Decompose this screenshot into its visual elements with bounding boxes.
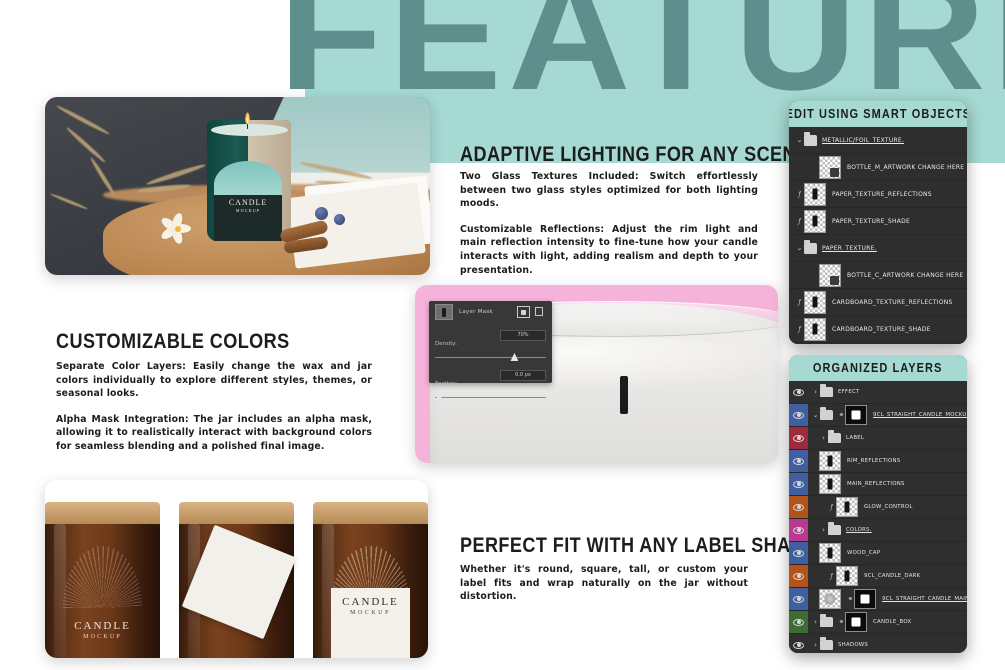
- folder-icon: [820, 387, 833, 397]
- layer-mask-thumbnail: [854, 589, 876, 609]
- candle-wax-top: [211, 124, 288, 136]
- photo-amber-jars: CANDLE MOCKUP CANDLE MOCKUP: [45, 480, 428, 658]
- smart-object-row[interactable]: ⌄PAPER_TEXTURE.: [789, 235, 967, 262]
- folder-icon: [804, 243, 817, 254]
- layer-thumbnail: [804, 183, 826, 206]
- layer-mask-properties-panel[interactable]: Layer Mask Density: 70% Feather: 0.0 px: [429, 301, 552, 383]
- layer-row[interactable]: ›COLORS.: [789, 519, 967, 542]
- jar-brand-sub: MOCKUP: [63, 634, 141, 640]
- layer-visibility-eye-icon[interactable]: [789, 565, 808, 587]
- layer-thumbnail: [804, 318, 826, 341]
- layer-name: METALLIC/FOIL_TEXTURE.: [822, 137, 904, 144]
- amber-jar: CANDLE MOCKUP: [45, 502, 160, 658]
- folder-icon: [820, 410, 833, 420]
- wood-lid: [179, 502, 294, 524]
- disclosure-triangle-icon[interactable]: ⌄: [811, 412, 820, 419]
- folder-icon: [828, 433, 841, 443]
- smart-object-thumbnail: [819, 156, 841, 179]
- smart-object-row[interactable]: ƒCARDBOARD_TEXTURE_REFLECTIONS: [789, 289, 967, 316]
- feather-value[interactable]: 0.0 px: [500, 370, 546, 381]
- layer-visibility-eye-icon[interactable]: [789, 588, 808, 610]
- layer-thumbnail: [804, 210, 826, 233]
- mask-options-icon[interactable]: [535, 307, 546, 317]
- layer-row[interactable]: MAIN_REFLECTIONS: [789, 473, 967, 496]
- layer-visibility-eye-icon[interactable]: [789, 404, 808, 426]
- mask-panel-title: Layer Mask: [459, 309, 493, 315]
- panel-smart-objects[interactable]: EDIT USING SMART OBJECTS ⌄METALLIC/FOIL_…: [789, 101, 967, 344]
- layer-thumbnail: [804, 291, 826, 314]
- layer-name: COLORS.: [846, 527, 872, 533]
- label-brand-name: CANDLE: [229, 198, 267, 207]
- layer-row[interactable]: ›LABEL: [789, 427, 967, 450]
- amber-jar: CANDLE MOCKUP: [313, 502, 428, 658]
- heading-adaptive-lighting: ADAPTIVE LIGHTING FOR ANY SCENE: [460, 143, 808, 167]
- layer-name: 9CL_STRAIGHT_CANDLE_MAIN-01: [882, 596, 967, 602]
- photo-layer-mask-demo: Layer Mask Density: 70% Feather: 0.0 px: [415, 285, 778, 463]
- fx-icon: ƒ: [795, 191, 804, 198]
- heading-customizable-colors: CUSTOMIZABLE COLORS: [56, 330, 290, 354]
- select-mask-icon[interactable]: [517, 306, 530, 318]
- link-chain-icon[interactable]: ⚭: [838, 618, 845, 626]
- paragraph: Customizable Reflections: Adjust the rim…: [460, 223, 758, 277]
- feather-field[interactable]: Feather: 0.0 px: [429, 370, 552, 403]
- layer-name: MAIN_REFLECTIONS: [847, 481, 905, 487]
- smart-object-row[interactable]: BOTTLE_C_ARTWORK CHANGE HERE: [789, 262, 967, 289]
- layer-visibility-eye-icon[interactable]: [789, 450, 808, 472]
- layer-row[interactable]: ›SHADOWS: [789, 634, 967, 653]
- layer-visibility-eye-icon[interactable]: [789, 496, 808, 518]
- smart-object-row[interactable]: ƒPAPER_TEXTURE_SHADE: [789, 208, 967, 235]
- fx-icon: ƒ: [795, 299, 804, 306]
- layer-visibility-eye-icon[interactable]: [789, 427, 808, 449]
- paragraph: Whether it's round, square, tall, or cus…: [460, 563, 748, 604]
- layer-name: PAPER_TEXTURE.: [822, 245, 877, 252]
- layer-name: GLOW_CONTROL: [864, 504, 913, 510]
- jar-label-white: CANDLE MOCKUP: [331, 588, 409, 658]
- disclosure-triangle-icon[interactable]: ›: [819, 527, 828, 534]
- poster-canvas: FEATURES CANDLE MOCKUP: [0, 0, 1005, 670]
- layer-name: LABEL: [846, 435, 864, 441]
- layer-mask-thumbnail: [845, 405, 867, 425]
- heading-perfect-fit: PERFECT FIT WITH ANY LABEL SHAPE: [460, 534, 816, 558]
- mask-thumbnail-icon: [435, 304, 453, 320]
- layer-name: CANDLE_BOX: [873, 619, 911, 625]
- density-value[interactable]: 70%: [500, 330, 546, 341]
- blueberry: [315, 207, 328, 220]
- layer-mask-thumbnail: [845, 612, 867, 632]
- feather-label: Feather:: [435, 381, 457, 387]
- folder-icon: [820, 640, 833, 650]
- layer-name: CARDBOARD_TEXTURE_SHADE: [832, 326, 931, 333]
- layer-row[interactable]: WOOD_CAP: [789, 542, 967, 565]
- link-chain-icon[interactable]: ⚭: [838, 411, 845, 419]
- body-customizable-colors: Separate Color Layers: Easily change the…: [56, 360, 372, 454]
- jar-brand-name: CANDLE: [331, 596, 409, 608]
- layer-row[interactable]: ⌄⚭9CL_STRAIGHT_CANDLE_MOCKUP_02: [789, 404, 967, 427]
- panel-organized-layers[interactable]: ORGANIZED LAYERS ›EFFECT⌄⚭9CL_STRAIGHT_C…: [789, 355, 967, 653]
- layer-visibility-eye-icon[interactable]: [789, 634, 808, 653]
- jar-brand-name: CANDLE: [63, 620, 141, 632]
- layer-name: RIM_REFLECTIONS: [847, 458, 900, 464]
- layer-name: 9CL_CANDLE_DARK: [864, 573, 920, 579]
- label-brand-text: CANDLE MOCKUP: [214, 198, 281, 213]
- density-field[interactable]: Density: 70%: [429, 330, 552, 363]
- layer-visibility-eye-icon[interactable]: [789, 473, 808, 495]
- layer-name: PAPER_TEXTURE_REFLECTIONS: [832, 191, 932, 198]
- layer-name: CARDBOARD_TEXTURE_REFLECTIONS: [832, 299, 953, 306]
- layer-name: SHADOWS: [838, 642, 868, 648]
- layer-visibility-eye-icon[interactable]: [789, 381, 808, 403]
- smart-objects-layer-list[interactable]: ⌄METALLIC/FOIL_TEXTURE.BOTTLE_M_ARTWORK …: [789, 127, 967, 344]
- body-perfect-fit: Whether it's round, square, tall, or cus…: [460, 563, 748, 604]
- photo-candle-scene: CANDLE MOCKUP: [45, 97, 430, 275]
- layer-row[interactable]: ƒGLOW_CONTROL: [789, 496, 967, 519]
- jar-label-etched: [63, 546, 141, 658]
- layer-name: BOTTLE_C_ARTWORK CHANGE HERE: [847, 272, 963, 279]
- folder-icon: [820, 617, 833, 627]
- paragraph: Alpha Mask Integration: The jar includes…: [56, 413, 372, 454]
- layer-name: WOOD_CAP: [847, 550, 880, 556]
- layer-row[interactable]: ⚭9CL_STRAIGHT_CANDLE_MAIN-01: [789, 588, 967, 611]
- disclosure-triangle-icon[interactable]: ›: [811, 642, 820, 649]
- layer-row[interactable]: RIM_REFLECTIONS: [789, 450, 967, 473]
- fx-icon: ƒ: [795, 218, 804, 225]
- plumeria-flower: [161, 214, 197, 244]
- layer-row[interactable]: ƒ9CL_CANDLE_DARK: [789, 565, 967, 588]
- disclosure-triangle-icon[interactable]: ⌄: [795, 137, 804, 144]
- layer-visibility-eye-icon[interactable]: [789, 519, 808, 541]
- layer-thumbnail: [836, 566, 858, 586]
- wood-lid: [45, 502, 160, 524]
- smart-object-thumbnail: [819, 264, 841, 287]
- jar-brand-sub: MOCKUP: [331, 610, 409, 616]
- layer-name: PAPER_TEXTURE_SHADE: [832, 218, 910, 225]
- layer-name: 9CL_STRAIGHT_CANDLE_MOCKUP_02: [873, 412, 967, 418]
- smart-object-row[interactable]: BOTTLE_M_ARTWORK CHANGE HERE: [789, 154, 967, 181]
- layer-thumbnail: [819, 474, 841, 494]
- fx-icon: ƒ: [827, 504, 836, 511]
- candle-wick: [620, 376, 628, 414]
- smart-object-row[interactable]: ƒCARDBOARD_TEXTURE_SHADE: [789, 316, 967, 343]
- organized-layers-list[interactable]: ›EFFECT⌄⚭9CL_STRAIGHT_CANDLE_MOCKUP_02›L…: [789, 381, 967, 653]
- mask-panel-header: Layer Mask: [429, 301, 552, 323]
- disclosure-triangle-icon[interactable]: ›: [819, 435, 828, 442]
- feather-slider[interactable]: [435, 393, 546, 403]
- panel-smart-objects-title: EDIT USING SMART OBJECTS: [789, 107, 967, 121]
- layer-visibility-eye-icon[interactable]: [789, 542, 808, 564]
- layer-name: EFFECT: [838, 389, 860, 395]
- paragraph: Two Glass Textures Included: Switch effo…: [460, 170, 758, 211]
- layer-thumbnail: [819, 543, 841, 563]
- disclosure-triangle-icon[interactable]: ›: [811, 389, 820, 396]
- density-label: Density:: [435, 341, 457, 347]
- disclosure-triangle-icon[interactable]: ⌄: [795, 245, 804, 252]
- layer-visibility-eye-icon[interactable]: [789, 611, 808, 633]
- smart-object-row[interactable]: ›CARDBOARD_TEXTURE.: [789, 343, 967, 344]
- panel-organized-layers-header: ORGANIZED LAYERS: [789, 355, 967, 381]
- layer-thumbnail: [836, 497, 858, 517]
- paragraph: Separate Color Layers: Easily change the…: [56, 360, 372, 401]
- layer-thumbnail: [819, 589, 841, 609]
- panel-organized-layers-title: ORGANIZED LAYERS: [813, 361, 943, 375]
- label-brand-sub: MOCKUP: [214, 208, 281, 213]
- folder-icon: [804, 135, 817, 146]
- wood-lid: [313, 502, 428, 524]
- folder-icon: [828, 525, 841, 535]
- fx-icon: ƒ: [827, 573, 836, 580]
- body-adaptive-lighting: Two Glass Textures Included: Switch effo…: [460, 170, 758, 277]
- density-slider[interactable]: [435, 353, 546, 363]
- panel-smart-objects-header: EDIT USING SMART OBJECTS: [789, 101, 967, 127]
- smart-object-row[interactable]: ⌄METALLIC/FOIL_TEXTURE.: [789, 127, 967, 154]
- disclosure-triangle-icon[interactable]: ›: [811, 619, 820, 626]
- link-chain-icon[interactable]: ⚭: [847, 595, 854, 603]
- layer-thumbnail: [819, 451, 841, 471]
- smart-object-row[interactable]: ƒPAPER_TEXTURE_REFLECTIONS: [789, 181, 967, 208]
- layer-row[interactable]: ›EFFECT: [789, 381, 967, 404]
- fx-icon: ƒ: [795, 326, 804, 333]
- layer-row[interactable]: ›⚭CANDLE_BOX: [789, 611, 967, 634]
- layer-name: BOTTLE_M_ARTWORK CHANGE HERE: [847, 164, 964, 171]
